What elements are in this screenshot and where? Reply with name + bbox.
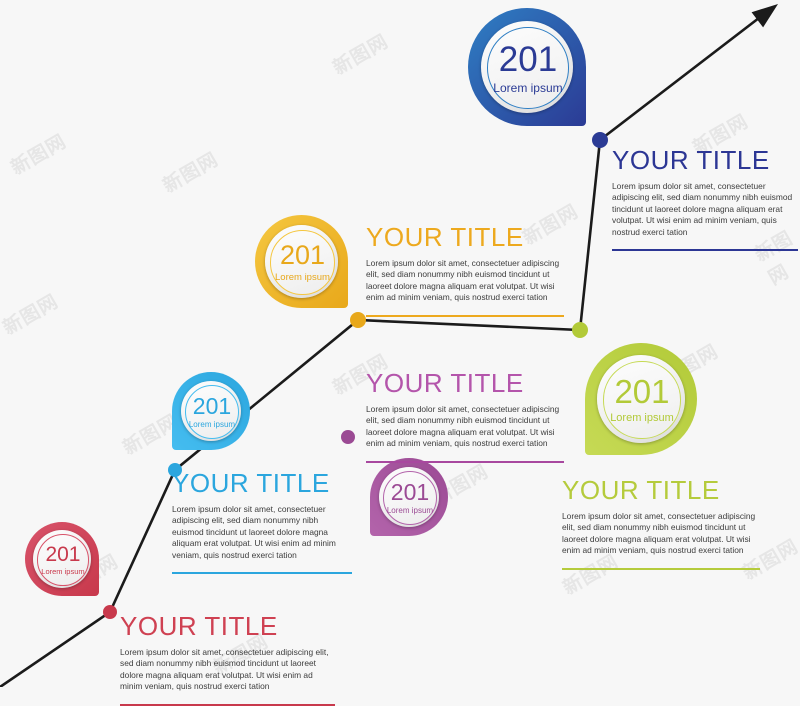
pin-year-cyan: 201	[193, 395, 231, 418]
step-rule-red	[120, 704, 335, 706]
step-body-blue: Lorem ipsum dolor sit amet, consectetuer…	[612, 181, 798, 238]
step-rule-cyan	[172, 572, 352, 574]
pin-inner-purple: 201Lorem ipsum	[383, 471, 437, 525]
pin-subtitle-blue: Lorem ipsum	[493, 82, 562, 94]
timeline-node-red[interactable]	[103, 605, 117, 619]
pin-year-yellow: 201	[280, 242, 325, 269]
marker-pin-green[interactable]: 201Lorem ipsum	[585, 343, 697, 455]
step-body-purple: Lorem ipsum dolor sit amet, consectetuer…	[366, 404, 564, 450]
step-title-purple: YOUR TITLE	[366, 368, 564, 399]
step-title-cyan: YOUR TITLE	[172, 468, 352, 499]
step-rule-purple	[366, 461, 564, 463]
pin-inner-cyan: 201Lorem ipsum	[185, 385, 239, 439]
step-title-yellow: YOUR TITLE	[366, 222, 564, 253]
timeline-node-blue[interactable]	[592, 132, 608, 148]
step-text-block-blue: YOUR TITLELorem ipsum dolor sit amet, co…	[612, 145, 798, 251]
pin-inner-blue: 201Lorem ipsum	[487, 27, 568, 108]
pin-ring-blue: 201Lorem ipsum	[481, 21, 573, 113]
step-body-green: Lorem ipsum dolor sit amet, consectetuer…	[562, 511, 760, 557]
pin-inner-green: 201Lorem ipsum	[603, 361, 680, 438]
marker-pin-yellow[interactable]: 201Lorem ipsum	[255, 215, 348, 308]
pin-subtitle-purple: Lorem ipsum	[387, 507, 433, 515]
step-body-yellow: Lorem ipsum dolor sit amet, consectetuer…	[366, 258, 564, 304]
pin-inner-red: 201Lorem ipsum	[37, 534, 89, 586]
pin-year-red: 201	[45, 544, 80, 565]
step-rule-blue	[612, 249, 798, 251]
marker-pin-red[interactable]: 201Lorem ipsum	[25, 522, 99, 596]
step-body-cyan: Lorem ipsum dolor sit amet, consectetuer…	[172, 504, 352, 561]
step-title-blue: YOUR TITLE	[612, 145, 798, 176]
pin-ring-red: 201Lorem ipsum	[33, 530, 91, 588]
pin-subtitle-green: Lorem ipsum	[610, 413, 674, 424]
step-title-green: YOUR TITLE	[562, 475, 760, 506]
step-text-block-green: YOUR TITLELorem ipsum dolor sit amet, co…	[562, 475, 760, 570]
pin-year-green: 201	[614, 375, 669, 408]
arrow-head-icon	[752, 4, 778, 27]
pin-year-purple: 201	[391, 481, 429, 504]
pin-year-blue: 201	[499, 42, 557, 77]
marker-pin-cyan[interactable]: 201Lorem ipsum	[172, 372, 250, 450]
pin-ring-yellow: 201Lorem ipsum	[265, 225, 338, 298]
pin-ring-green: 201Lorem ipsum	[597, 355, 684, 442]
step-text-block-yellow: YOUR TITLELorem ipsum dolor sit amet, co…	[366, 222, 564, 317]
infographic-canvas: 新图网新图网新图网新图网新图网新图网新图网新图网新图网新图网新图网新图网新图网新…	[0, 0, 800, 687]
step-text-block-cyan: YOUR TITLELorem ipsum dolor sit amet, co…	[172, 468, 352, 574]
timeline-node-green[interactable]	[572, 322, 588, 338]
step-rule-yellow	[366, 315, 564, 317]
timeline-node-purple[interactable]	[341, 430, 355, 444]
step-text-block-red: YOUR TITLELorem ipsum dolor sit amet, co…	[120, 611, 335, 706]
step-rule-green	[562, 568, 760, 570]
timeline-node-yellow[interactable]	[350, 312, 366, 328]
marker-pin-blue[interactable]: 201Lorem ipsum	[468, 8, 586, 126]
marker-pin-purple[interactable]: 201Lorem ipsum	[370, 458, 448, 536]
step-title-red: YOUR TITLE	[120, 611, 335, 642]
step-text-block-purple: YOUR TITLELorem ipsum dolor sit amet, co…	[366, 368, 564, 463]
pin-subtitle-yellow: Lorem ipsum	[275, 273, 330, 283]
step-body-red: Lorem ipsum dolor sit amet, consectetuer…	[120, 647, 335, 693]
pin-inner-yellow: 201Lorem ipsum	[270, 230, 334, 294]
pin-subtitle-cyan: Lorem ipsum	[189, 421, 235, 429]
pin-subtitle-red: Lorem ipsum	[41, 568, 84, 576]
